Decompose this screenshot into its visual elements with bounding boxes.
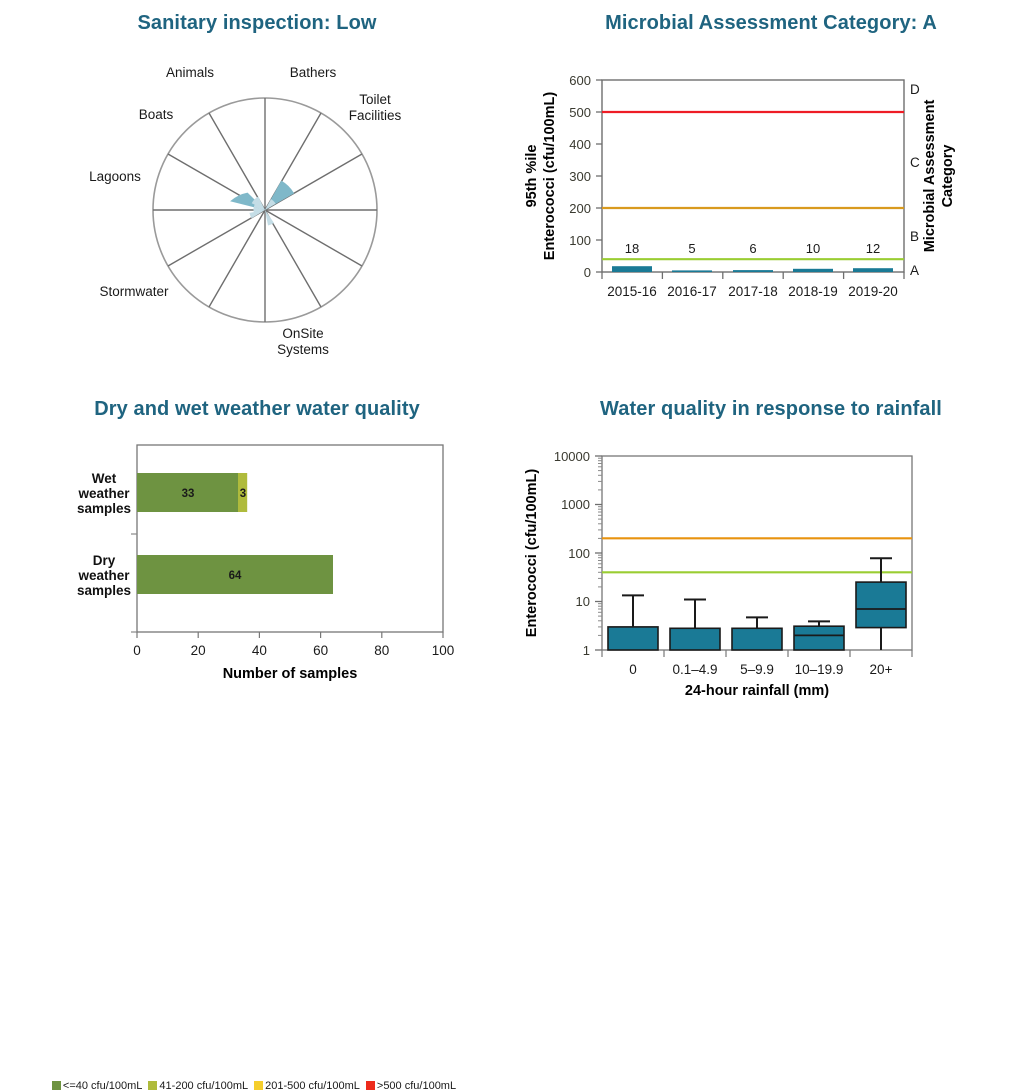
microbial-bar-2018-19 <box>793 269 833 272</box>
rainfall-ylabel: Enterococci (cfu/100mL) <box>524 469 540 638</box>
dryweather-xtick-100: 100 <box>432 643 455 658</box>
panel-sanitary-inspection: Sanitary inspection: Low <box>0 0 514 380</box>
microbial-ylabel-line1: 95th %ile <box>524 145 540 208</box>
rose-label-onsite-line1: OnSite <box>282 326 323 341</box>
microbial-xtick-2016-17: 2016-17 <box>667 284 717 299</box>
microbial-cat-A: A <box>910 263 919 278</box>
legend-label-3: >500 cfu/100mL <box>377 1080 456 1092</box>
microbial-cat-C: C <box>910 155 920 170</box>
dryweather-cat-wet-line2: weather <box>77 486 130 501</box>
dryweather-value-wet-olive: 3 <box>240 488 246 500</box>
microbial-bar-2015-16 <box>612 266 652 272</box>
rainfall-ytick-10: 10 <box>576 594 590 609</box>
dryweather-value-wet-green: 33 <box>182 488 195 500</box>
microbial-ytick-100: 100 <box>569 233 591 248</box>
dryweather-xtick-60: 60 <box>313 643 328 658</box>
rainfall-ytick-1000: 1000 <box>561 497 590 512</box>
panel-rainfall-response: Water quality in response to rainfall 1 … <box>514 380 1028 755</box>
rose-label-bathers: Bathers <box>290 65 337 80</box>
dryweather-xtick-40: 40 <box>252 643 267 658</box>
legend-label-2: 201-500 cfu/100mL <box>265 1080 360 1092</box>
microbial-value-2015-16: 18 <box>625 241 639 256</box>
microbial-x-ticks <box>602 272 904 279</box>
microbial-ytick-500: 500 <box>569 105 591 120</box>
rainfall-x-ticks <box>602 650 912 657</box>
panel-dry-wet-weather: Dry and wet weather water quality 33 3 6… <box>0 380 514 755</box>
microbial-cat-D: D <box>910 82 920 97</box>
dryweather-cat-dry-line3: samples <box>77 583 131 598</box>
rose-label-animals: Animals <box>166 65 214 80</box>
legend-item-3: >500 cfu/100mL <box>366 1080 456 1092</box>
rainfall-xtick-0: 0 <box>629 662 637 677</box>
legend-item-1: 41-200 cfu/100mL <box>148 1080 248 1092</box>
rose-label-boats: Boats <box>139 107 174 122</box>
legend-swatch-3 <box>366 1081 375 1090</box>
microbial-xtick-2018-19: 2018-19 <box>788 284 838 299</box>
dry-wet-weather-chart: 33 3 64 Wet weather samples Dry weather … <box>0 435 514 695</box>
microbial-cat-B: B <box>910 229 919 244</box>
microbial-bar-2017-18 <box>733 270 773 272</box>
rainfall-ytick-10000: 10000 <box>554 449 590 464</box>
dryweather-legend: <=40 cfu/100mL 41-200 cfu/100mL 201-500 … <box>0 1080 514 1092</box>
rainfall-box-3 <box>794 621 844 650</box>
dryweather-xlabel: Number of samples <box>223 666 358 682</box>
rose-label-toilet-line2: Facilities <box>349 108 402 123</box>
microbial-value-2018-19: 10 <box>806 241 820 256</box>
rainfall-box-chart: 1 10 100 1000 10000 <box>514 438 1028 738</box>
microbial-xtick-2015-16: 2015-16 <box>607 284 657 299</box>
microbial-ytick-0: 0 <box>584 265 591 280</box>
legend-label-0: <=40 cfu/100mL <box>63 1080 143 1092</box>
legend-swatch-1 <box>148 1081 157 1090</box>
legend-swatch-2 <box>254 1081 263 1090</box>
dryweather-cat-dry-line1: Dry <box>93 553 116 568</box>
dryweather-xtick-0: 0 <box>133 643 141 658</box>
microbial-ytick-200: 200 <box>569 201 591 216</box>
legend-item-0: <=40 cfu/100mL <box>52 1080 143 1092</box>
sanitary-rose-chart: Animals Bathers Toilet Facilities Boats … <box>0 55 514 365</box>
microbial-value-2016-17: 5 <box>688 241 695 256</box>
microbial-xtick-2017-18: 2017-18 <box>728 284 778 299</box>
rose-label-lagoons: Lagoons <box>89 169 141 184</box>
microbial-right-label-line1: Microbial Assessment <box>922 100 938 253</box>
microbial-value-2017-18: 6 <box>749 241 756 256</box>
dryweather-x-ticks <box>137 632 443 638</box>
legend-swatch-0 <box>52 1081 61 1090</box>
microbial-ytick-400: 400 <box>569 137 591 152</box>
rose-label-toilet-line1: Toilet <box>359 92 391 107</box>
rose-label-stormwater: Stormwater <box>99 284 169 299</box>
legend-label-1: 41-200 cfu/100mL <box>159 1080 248 1092</box>
dryweather-xtick-80: 80 <box>374 643 389 658</box>
microbial-assessment-chart: 0 100 200 300 400 500 600 95th %ile Ente… <box>514 50 1028 310</box>
rainfall-xtick-0.1-4.9: 0.1–4.9 <box>672 662 717 677</box>
rainfall-xtick-10-19.9: 10–19.9 <box>795 662 844 677</box>
dryweather-xtick-20: 20 <box>191 643 206 658</box>
legend-item-2: 201-500 cfu/100mL <box>254 1080 360 1092</box>
dryweather-cat-wet-line3: samples <box>77 501 131 516</box>
rose-label-onsite-line2: Systems <box>277 342 329 357</box>
sanitary-panel-title: Sanitary inspection: Low <box>0 12 514 35</box>
microbial-panel-title: Microbial Assessment Category: A <box>514 12 1028 35</box>
microbial-y-axis: 0 100 200 300 400 500 600 <box>569 73 602 280</box>
rainfall-ytick-100: 100 <box>568 546 590 561</box>
microbial-xtick-2019-20: 2019-20 <box>848 284 898 299</box>
dryweather-value-dry-green: 64 <box>229 570 242 582</box>
dryweather-cat-wet-line1: Wet <box>92 471 117 486</box>
microbial-right-label-line2: Category <box>940 145 956 208</box>
panel-microbial-assessment: Microbial Assessment Category: A 0 100 2… <box>514 0 1028 380</box>
microbial-ytick-600: 600 <box>569 73 591 88</box>
rainfall-xtick-20plus: 20+ <box>870 662 893 677</box>
rainfall-xlabel: 24-hour rainfall (mm) <box>685 683 829 699</box>
microbial-ytick-300: 300 <box>569 169 591 184</box>
microbial-bar-2016-17 <box>672 270 712 272</box>
dryweather-cat-dry-line2: weather <box>77 568 130 583</box>
dryweather-y-axis: Wet weather samples Dry weather samples <box>77 471 137 632</box>
rainfall-panel-title: Water quality in response to rainfall <box>514 398 1028 421</box>
microbial-ylabel-line2: Enterococci (cfu/100mL) <box>542 92 558 261</box>
microbial-value-2019-20: 12 <box>866 241 880 256</box>
dryweather-panel-title: Dry and wet weather water quality <box>0 398 514 421</box>
microbial-right-axis: A B C D <box>910 82 920 278</box>
microbial-bar-2019-20 <box>853 268 893 272</box>
rainfall-y-axis: 1 10 100 1000 10000 <box>554 449 602 658</box>
rainfall-xtick-5-9.9: 5–9.9 <box>740 662 774 677</box>
rainfall-ytick-1: 1 <box>583 643 590 658</box>
